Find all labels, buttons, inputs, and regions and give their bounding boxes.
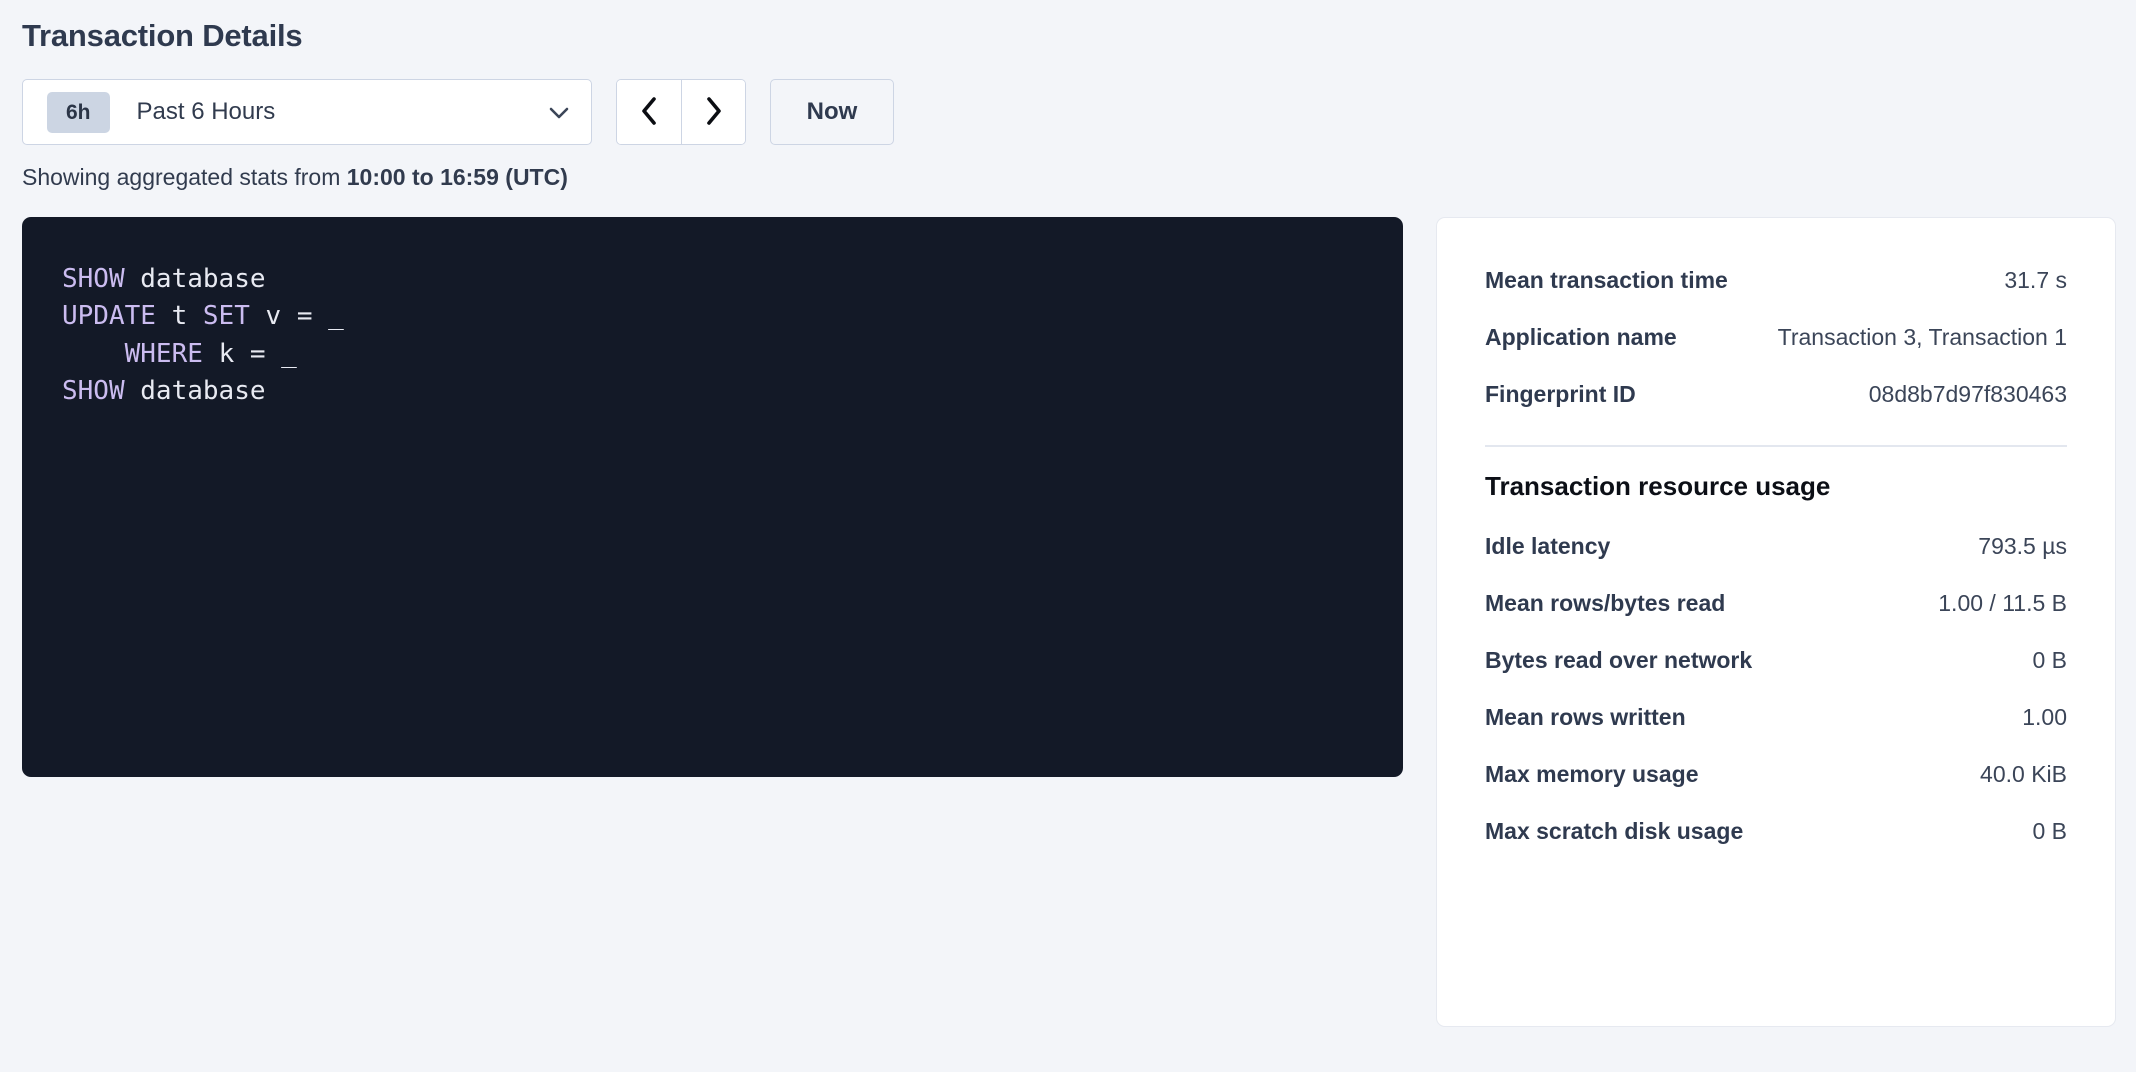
sql-token: t bbox=[172, 301, 188, 331]
stat-label: Idle latency bbox=[1485, 533, 1610, 560]
aggregate-note: Showing aggregated stats from 10:00 to 1… bbox=[22, 164, 2114, 191]
stats-divider bbox=[1485, 445, 2067, 447]
stat-label: Fingerprint ID bbox=[1485, 381, 1636, 408]
aggregate-note-prefix: Showing aggregated stats from bbox=[22, 164, 347, 190]
summary-stat-list: Mean transaction time31.7 sApplication n… bbox=[1485, 252, 2067, 423]
stat-value: 1.00 bbox=[2022, 704, 2067, 731]
now-button[interactable]: Now bbox=[770, 79, 894, 145]
stat-label: Max scratch disk usage bbox=[1485, 818, 1743, 845]
sql-token: database bbox=[140, 376, 265, 406]
sql-token: = _ bbox=[281, 301, 344, 331]
sql-token bbox=[62, 339, 125, 369]
sql-token: database bbox=[140, 264, 265, 294]
time-range-badge: 6h bbox=[47, 92, 110, 133]
sql-token: SHOW bbox=[62, 264, 125, 294]
stat-row: Application nameTransaction 3, Transacti… bbox=[1485, 309, 2067, 366]
sql-line: UPDATE t SET v = _ bbox=[62, 298, 1403, 335]
chevron-down-icon bbox=[549, 106, 569, 118]
stat-label: Mean rows written bbox=[1485, 704, 1686, 731]
time-range-label: Past 6 Hours bbox=[137, 98, 549, 126]
stat-label: Bytes read over network bbox=[1485, 647, 1752, 674]
details-content: SHOW databaseUPDATE t SET v = _ WHERE k … bbox=[22, 217, 2114, 1027]
stat-value: 08d8b7d97f830463 bbox=[1869, 381, 2067, 408]
time-range-select[interactable]: 6h Past 6 Hours bbox=[22, 79, 592, 145]
stat-row: Bytes read over network0 B bbox=[1485, 632, 2067, 689]
stat-row: Mean transaction time31.7 s bbox=[1485, 252, 2067, 309]
sql-line: WHERE k = _ bbox=[62, 336, 1403, 373]
sql-token: UPDATE bbox=[62, 301, 156, 331]
page-title: Transaction Details bbox=[22, 0, 2114, 54]
sql-line: SHOW database bbox=[62, 373, 1403, 410]
stat-row: Max memory usage40.0 KiB bbox=[1485, 746, 2067, 803]
stat-value: 0 B bbox=[2032, 818, 2067, 845]
sql-token bbox=[125, 264, 141, 294]
time-range-toolbar: 6h Past 6 Hours Now bbox=[22, 79, 2114, 145]
transaction-stats-card: Mean transaction time31.7 sApplication n… bbox=[1436, 217, 2116, 1027]
stat-row: Idle latency793.5 µs bbox=[1485, 518, 2067, 575]
chevron-right-icon bbox=[703, 95, 725, 130]
chevron-left-icon bbox=[638, 95, 660, 130]
sql-token: = _ bbox=[234, 339, 297, 369]
aggregate-note-range: 10:00 to 16:59 (UTC) bbox=[347, 164, 568, 190]
time-nav-group bbox=[616, 79, 746, 145]
stat-row: Max scratch disk usage0 B bbox=[1485, 803, 2067, 860]
stat-label: Application name bbox=[1485, 324, 1677, 351]
sql-token: SHOW bbox=[62, 376, 125, 406]
sql-token: WHERE bbox=[125, 339, 203, 369]
sql-token bbox=[203, 339, 219, 369]
stat-row: Mean rows/bytes read1.00 / 11.5 B bbox=[1485, 575, 2067, 632]
sql-token bbox=[250, 301, 266, 331]
stat-label: Mean transaction time bbox=[1485, 267, 1728, 294]
sql-token bbox=[125, 376, 141, 406]
stat-label: Mean rows/bytes read bbox=[1485, 590, 1725, 617]
sql-token: v bbox=[266, 301, 282, 331]
transaction-details-page: Transaction Details 6h Past 6 Hours Now bbox=[0, 0, 2136, 1072]
next-period-button[interactable] bbox=[681, 80, 745, 144]
stat-row: Mean rows written1.00 bbox=[1485, 689, 2067, 746]
resource-stat-list: Idle latency793.5 µsMean rows/bytes read… bbox=[1485, 518, 2067, 860]
stat-value: 40.0 KiB bbox=[1980, 761, 2067, 788]
resource-section-title: Transaction resource usage bbox=[1485, 461, 2067, 518]
stat-row: Fingerprint ID08d8b7d97f830463 bbox=[1485, 366, 2067, 423]
stat-value: 1.00 / 11.5 B bbox=[1938, 590, 2067, 617]
stat-value: Transaction 3, Transaction 1 bbox=[1778, 324, 2067, 351]
sql-line: SHOW database bbox=[62, 261, 1403, 298]
stat-value: 793.5 µs bbox=[1978, 533, 2067, 560]
sql-token: SET bbox=[203, 301, 250, 331]
sql-token: k bbox=[219, 339, 235, 369]
stat-label: Max memory usage bbox=[1485, 761, 1698, 788]
stat-value: 31.7 s bbox=[2004, 267, 2067, 294]
previous-period-button[interactable] bbox=[617, 80, 681, 144]
sql-token bbox=[156, 301, 172, 331]
stat-value: 0 B bbox=[2032, 647, 2067, 674]
sql-statement-block[interactable]: SHOW databaseUPDATE t SET v = _ WHERE k … bbox=[22, 217, 1403, 777]
sql-token bbox=[187, 301, 203, 331]
